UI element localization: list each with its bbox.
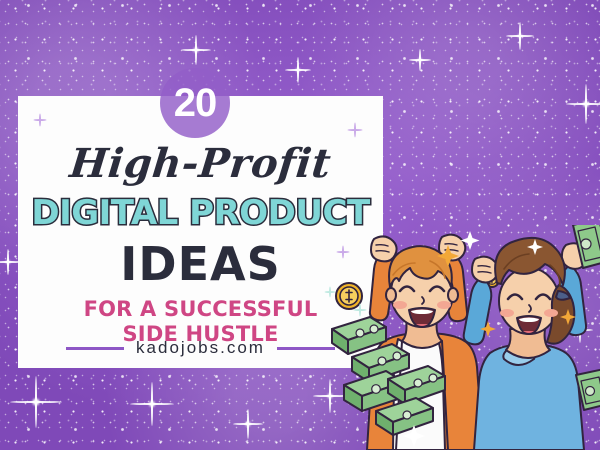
count-badge-number: 20 <box>174 83 217 123</box>
footer-url-row: kadojobs.com <box>18 338 383 358</box>
gold-coin-icon <box>336 283 362 309</box>
website-url: kadojobs.com <box>136 338 265 358</box>
headline-teal: DIGITAL PRODUCT <box>31 193 369 233</box>
woman-figure <box>464 238 588 450</box>
divider-right <box>277 347 335 350</box>
headline-ideas: IDEAS <box>120 241 280 287</box>
headline-script: High-Profit <box>68 140 334 187</box>
pinterest-pin-graphic: High-Profit DIGITAL PRODUCT IDEAS FOR A … <box>0 0 600 450</box>
subheadline-line-1: FOR A SUCCESSFUL <box>84 297 318 322</box>
count-badge: 20 <box>160 68 230 138</box>
illustration-cheering-people <box>330 225 600 450</box>
divider-left <box>66 347 124 350</box>
